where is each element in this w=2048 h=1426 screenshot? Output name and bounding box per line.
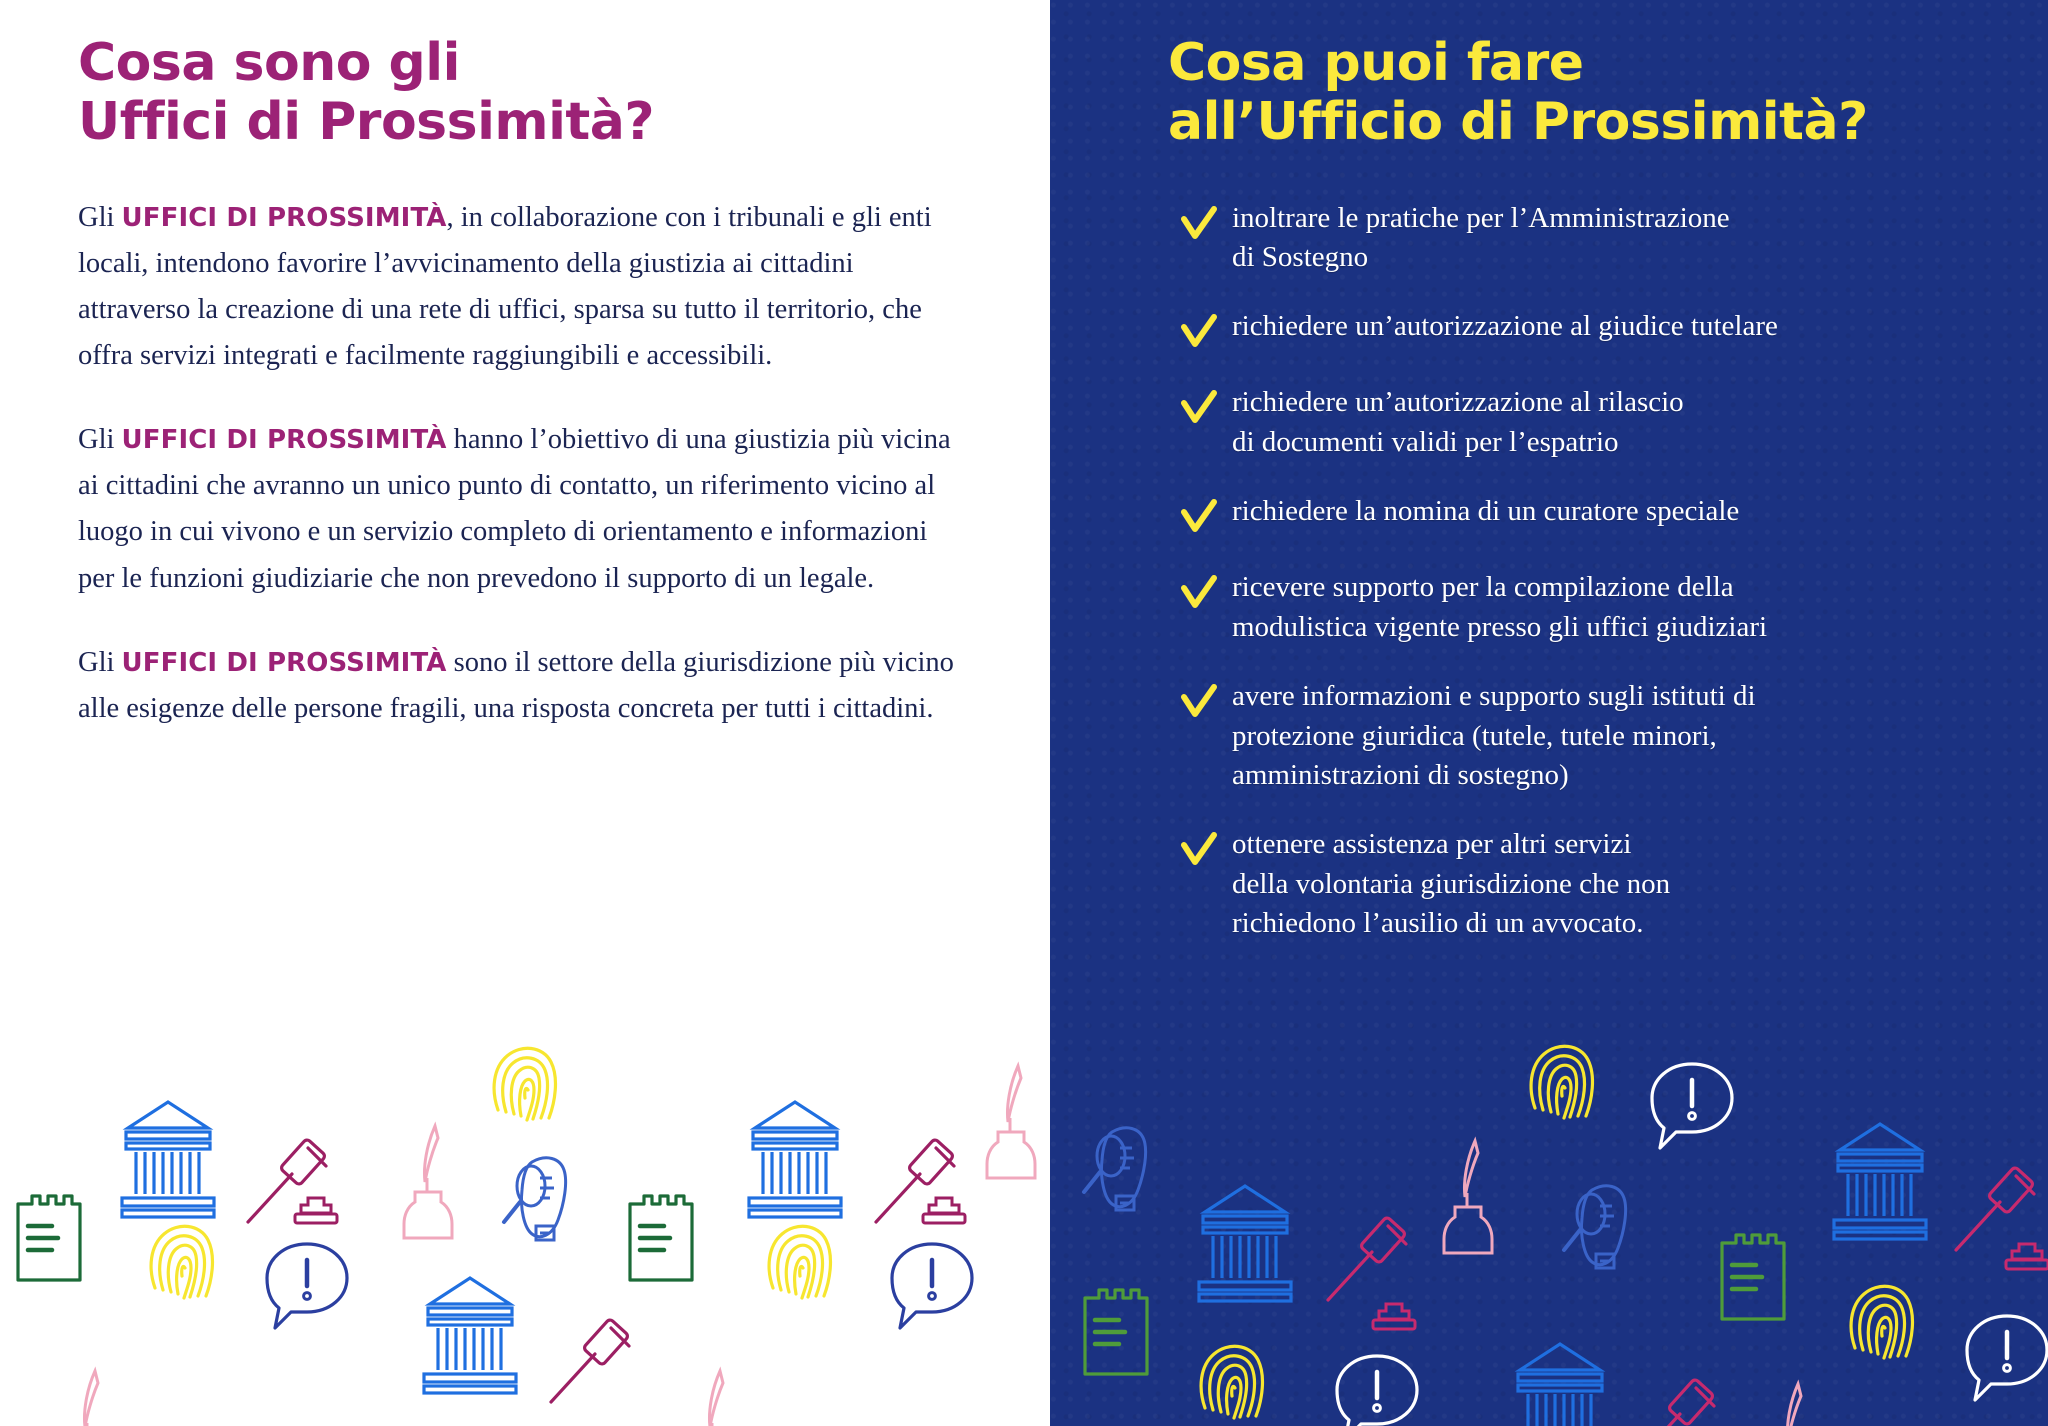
- paragraph-2-lead: Gli: [78, 424, 122, 455]
- courthouse-icon: [1834, 1124, 1926, 1239]
- quill-pen-icon: [987, 1066, 1035, 1178]
- document-folder-icon: [18, 1196, 80, 1280]
- fingerprint-icon: [151, 1226, 212, 1298]
- courthouse-icon: [122, 1102, 214, 1217]
- magnifier-document-icon: [504, 1158, 566, 1240]
- document-folder-icon: [630, 1196, 692, 1280]
- services-checklist: inoltrare le pratiche per l’Amministrazi…: [1168, 199, 2008, 944]
- speech-bubble-exclamation-icon: [1337, 1356, 1417, 1426]
- speech-bubble-exclamation-icon: [1967, 1316, 2047, 1400]
- check-icon: [1180, 574, 1232, 614]
- ink-stamp-icon: [923, 1198, 965, 1223]
- right-panel: Cosa puoi fare all’Ufficio di Prossimità…: [1050, 0, 2048, 1426]
- gavel-icon: [1956, 1166, 2034, 1250]
- paragraph-2: Gli UFFICI DI PROSSIMITÀ hanno l’obietti…: [78, 417, 958, 602]
- speech-bubble-exclamation-icon: [892, 1244, 972, 1328]
- list-item-label: inoltrare le pratiche per l’Amministrazi…: [1232, 199, 1730, 278]
- fingerprint-icon: [769, 1226, 830, 1298]
- quill-pen-icon: [1444, 1141, 1492, 1253]
- list-item: avere informazioni e supporto sugli isti…: [1180, 677, 2008, 795]
- quill-pen-icon: [64, 1371, 112, 1426]
- list-item-label: richiedere un’autorizzazione al rilascio…: [1232, 383, 1684, 462]
- list-item-label: avere informazioni e supporto sugli isti…: [1232, 677, 1756, 795]
- speech-bubble-exclamation-icon: [267, 1244, 347, 1328]
- quill-pen-icon: [689, 1371, 737, 1426]
- list-item: ricevere supporto per la compilazione de…: [1180, 568, 2008, 647]
- fingerprint-icon: [494, 1048, 555, 1120]
- courthouse-icon: [1199, 1186, 1291, 1301]
- paragraph-1-emphasis: UFFICI DI PROSSIMITÀ: [122, 203, 447, 233]
- list-item-label: richiedere la nomina di un curatore spec…: [1232, 492, 1739, 531]
- ink-stamp-icon: [2006, 1244, 2048, 1269]
- ink-stamp-icon: [1373, 1304, 1415, 1329]
- fingerprint-icon: [1851, 1286, 1912, 1358]
- list-item: richiedere la nomina di un curatore spec…: [1180, 492, 2008, 538]
- fingerprint-icon: [1201, 1346, 1262, 1418]
- ink-stamp-icon: [295, 1198, 337, 1223]
- document-folder-icon: [1722, 1235, 1784, 1319]
- document-folder-icon: [1085, 1290, 1147, 1374]
- check-icon: [1180, 205, 1232, 245]
- right-content: Cosa puoi fare all’Ufficio di Prossimità…: [1050, 0, 2048, 944]
- quill-pen-icon: [1767, 1384, 1815, 1426]
- fingerprint-icon: [1531, 1046, 1592, 1118]
- magnifier-document-icon: [1564, 1186, 1626, 1268]
- right-decor-band: [1050, 1026, 2048, 1426]
- list-item: ottenere assistenza per altri servizi de…: [1180, 825, 2008, 943]
- paragraph-3-emphasis: UFFICI DI PROSSIMITÀ: [122, 648, 447, 678]
- right-panel-title: Cosa puoi fare all’Ufficio di Prossimità…: [1168, 34, 2008, 153]
- brochure-spread: Cosa sono gli Uffici di Prossimità? Gli …: [0, 0, 2048, 1426]
- list-item-label: ottenere assistenza per altri servizi de…: [1232, 825, 1670, 943]
- check-icon: [1180, 831, 1232, 871]
- gavel-icon: [1328, 1216, 1406, 1300]
- check-icon: [1180, 313, 1232, 353]
- gavel-icon: [1636, 1378, 1714, 1426]
- check-icon: [1180, 683, 1232, 723]
- paragraph-1: Gli UFFICI DI PROSSIMITÀ, in collaborazi…: [78, 195, 958, 380]
- list-item: richiedere un’autorizzazione al rilascio…: [1180, 383, 2008, 462]
- courthouse-icon: [1514, 1344, 1606, 1426]
- gavel-icon: [876, 1138, 954, 1222]
- paragraph-3-lead: Gli: [78, 647, 122, 678]
- check-icon: [1180, 498, 1232, 538]
- left-panel: Cosa sono gli Uffici di Prossimità? Gli …: [0, 0, 1050, 1426]
- paragraph-3: Gli UFFICI DI PROSSIMITÀ sono il settore…: [78, 640, 958, 732]
- left-decor-band: [0, 1026, 1050, 1426]
- gavel-icon: [551, 1318, 629, 1402]
- courthouse-icon: [749, 1102, 841, 1217]
- paragraph-2-emphasis: UFFICI DI PROSSIMITÀ: [122, 425, 447, 455]
- paragraph-1-lead: Gli: [78, 202, 122, 233]
- list-item-label: ricevere supporto per la compilazione de…: [1232, 568, 1767, 647]
- gavel-icon: [248, 1138, 326, 1222]
- magnifier-document-icon: [1084, 1128, 1146, 1210]
- left-content: Cosa sono gli Uffici di Prossimità? Gli …: [0, 0, 1050, 732]
- list-item: inoltrare le pratiche per l’Amministrazi…: [1180, 199, 2008, 278]
- left-panel-title: Cosa sono gli Uffici di Prossimità?: [78, 34, 980, 153]
- check-icon: [1180, 389, 1232, 429]
- speech-bubble-exclamation-icon: [1652, 1064, 1732, 1148]
- quill-pen-icon: [404, 1126, 452, 1238]
- list-item-label: richiedere un’autorizzazione al giudice …: [1232, 307, 1778, 346]
- list-item: richiedere un’autorizzazione al giudice …: [1180, 307, 2008, 353]
- courthouse-icon: [424, 1278, 516, 1393]
